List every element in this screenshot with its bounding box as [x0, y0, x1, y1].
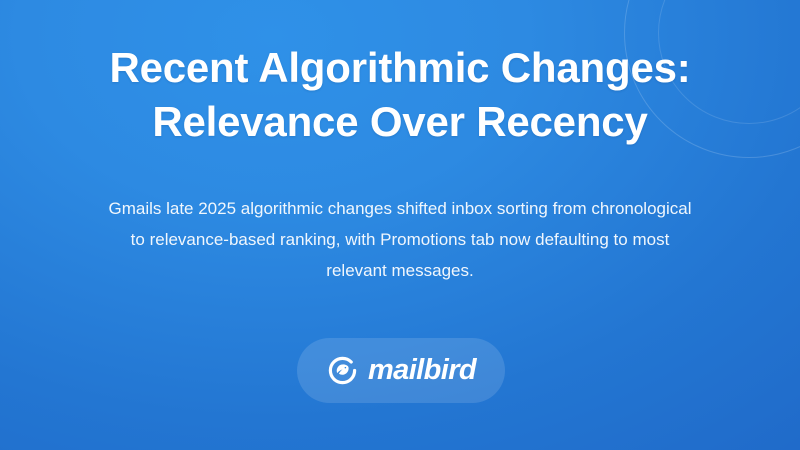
slide-body-text: Gmails late 2025 algorithmic changes shi…	[100, 193, 700, 286]
brand-logo-badge: mailbird	[297, 338, 505, 403]
brand-wordmark: mailbird	[368, 356, 476, 385]
slide-canvas: Recent Algorithmic Changes: Relevance Ov…	[0, 0, 800, 450]
mailbird-bird-circle-icon	[326, 354, 359, 387]
slide-title: Recent Algorithmic Changes: Relevance Ov…	[0, 41, 800, 149]
